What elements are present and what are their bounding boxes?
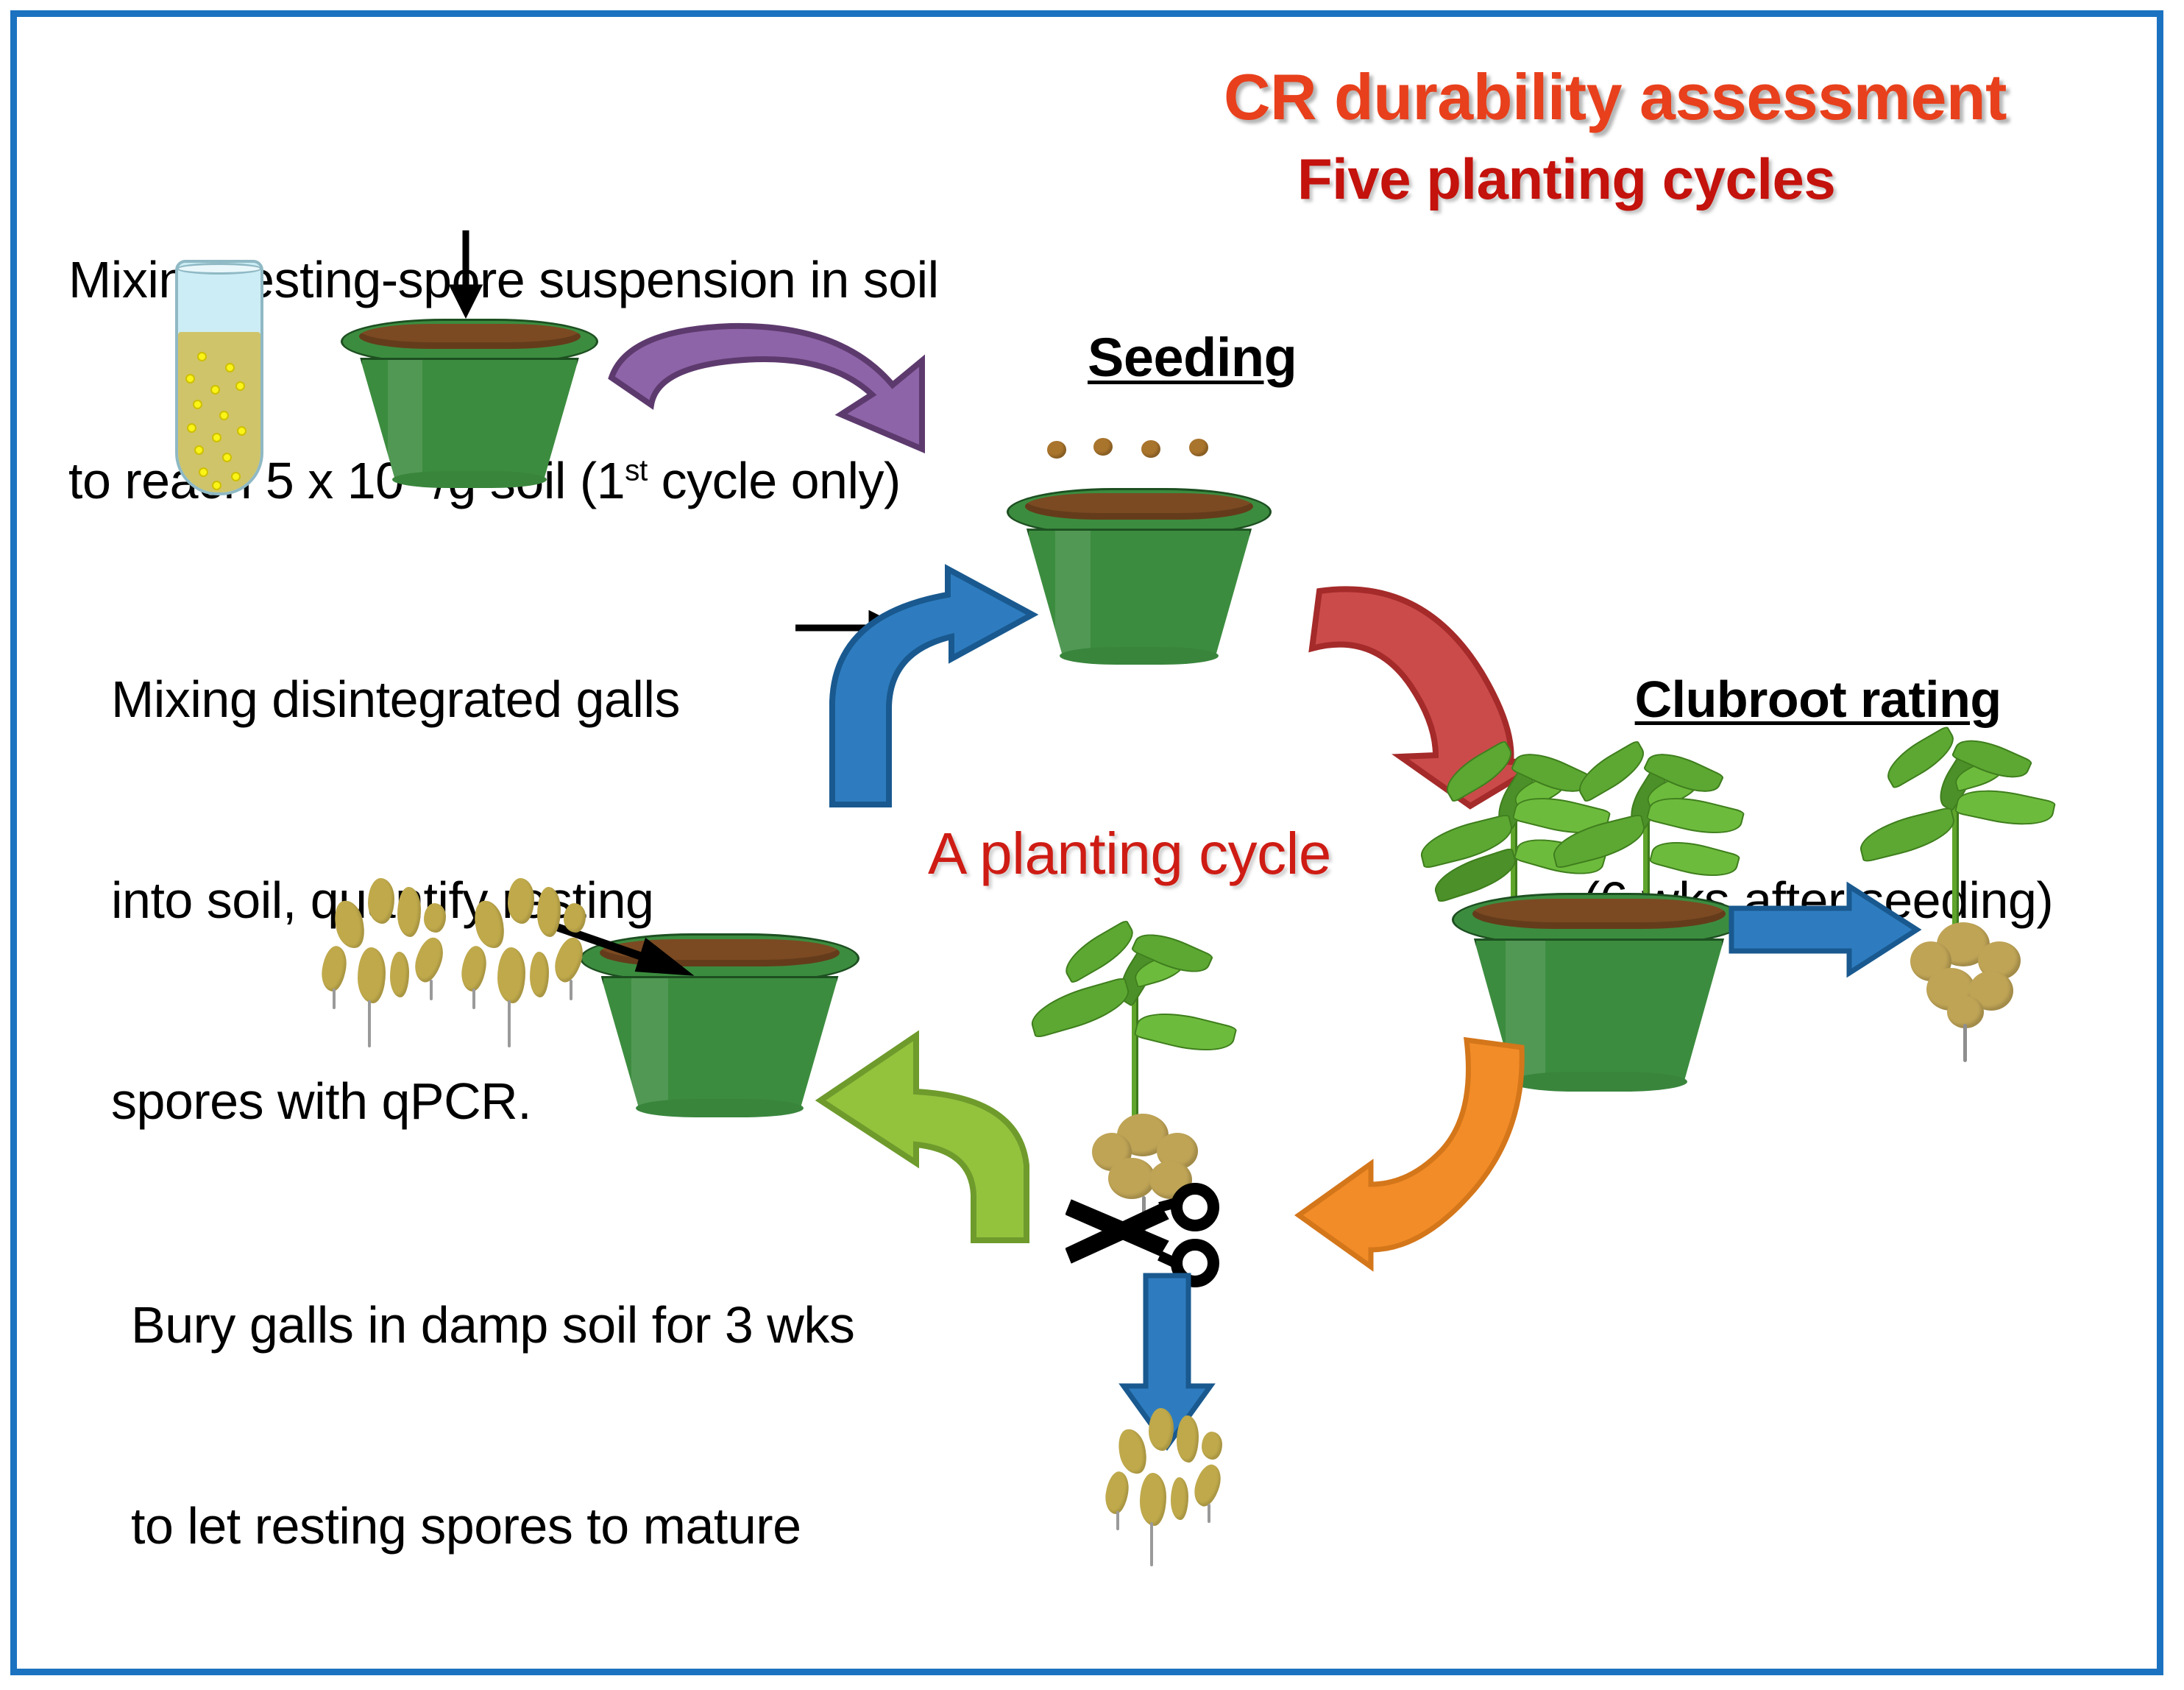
- caption-bury-galls: Bury galls in damp soil for 3 wks to let…: [131, 1158, 854, 1690]
- gall-fragment: [550, 935, 587, 986]
- seed: [1047, 441, 1066, 459]
- returned-disintegrated-galls: [1106, 1408, 1246, 1555]
- gall-root-strand: [1116, 1511, 1119, 1530]
- gall-fragment: [424, 903, 446, 933]
- spore-dot: [212, 481, 221, 490]
- leaf: [1133, 1003, 1237, 1060]
- gall-fragment: [508, 878, 534, 924]
- gall-fragment: [1177, 1415, 1199, 1463]
- page-subtitle: Five planting cycles: [1297, 142, 1835, 216]
- gall-fragment: [564, 903, 586, 933]
- gall-root-strand: [1150, 1522, 1153, 1566]
- spore-dot: [235, 381, 245, 391]
- spore-dot: [222, 453, 232, 462]
- pot-soil: [1025, 493, 1253, 520]
- gall-fragment: [1114, 1426, 1151, 1477]
- gall-fragment: [330, 897, 369, 951]
- pot-soil: [359, 324, 581, 350]
- leaf: [1855, 806, 1959, 863]
- caption-line: to let resting spores to mature: [131, 1493, 854, 1560]
- pot-base: [636, 1099, 804, 1117]
- clubroot-gall-right: [1904, 922, 2044, 1055]
- tube-opening: [177, 263, 262, 275]
- gall-root-strand: [570, 980, 572, 1000]
- leaf: [1649, 832, 1741, 885]
- gall-fragment: [530, 952, 549, 997]
- pot-base: [1060, 647, 1219, 665]
- seed: [1093, 438, 1113, 456]
- gall-fragment: [397, 887, 421, 937]
- spore-dot: [185, 374, 195, 383]
- gall-root-strand: [472, 989, 475, 1009]
- gall-root-strand: [333, 989, 336, 1009]
- gall-fragment: [470, 897, 509, 951]
- leaf: [1954, 782, 2056, 833]
- gall-fragment: [319, 944, 349, 993]
- label-roots-returned-line1: Roots and galls were returned: [830, 1678, 1572, 1690]
- spore-dot: [199, 467, 208, 477]
- figure-border: CR durability assessment Five planting c…: [10, 10, 2163, 1675]
- gall-fragment: [390, 952, 409, 997]
- figure-canvas: CR durability assessment Five planting c…: [0, 0, 2184, 1690]
- disintegrated-galls-2: [462, 878, 609, 1040]
- spore-dot: [219, 411, 229, 420]
- gall-fragment: [411, 935, 447, 986]
- cycle-center-label: A planting cycle: [928, 816, 1331, 892]
- pot-body: [601, 976, 839, 1109]
- label-roots-returned: Roots and galls were returned to the soi…: [830, 1544, 1572, 1690]
- spore-dot: [187, 423, 196, 433]
- seed-row: [1047, 436, 1246, 466]
- gall-fragment: [1171, 1477, 1188, 1520]
- spore-dot: [194, 445, 204, 455]
- gall-root-strand: [1208, 1504, 1210, 1523]
- gall-fragment: [1202, 1432, 1222, 1460]
- seed: [1189, 439, 1208, 456]
- gall-root-strand: [508, 1000, 511, 1047]
- gall-fragment: [1103, 1470, 1131, 1516]
- black-arrow-down-to-pot: [445, 230, 489, 319]
- spore-dot: [193, 400, 202, 409]
- label-clubroot-rating-title: Clubroot rating: [1583, 666, 2053, 733]
- orange-curved-arrow: [1297, 1040, 1533, 1268]
- gall-fragment: [497, 947, 525, 1003]
- purple-curved-arrow: [598, 308, 966, 492]
- caption-line: Bury galls in damp soil for 3 wks: [131, 1292, 854, 1359]
- resting-spore-suspension-tube: [175, 260, 263, 495]
- gall-root-strand: [368, 1000, 371, 1047]
- gall-fragment: [368, 878, 394, 924]
- gall-fragment: [459, 944, 489, 993]
- spore-dot: [225, 363, 235, 372]
- page-title: CR durability assessment: [1224, 55, 2007, 139]
- gall-fragment: [1191, 1462, 1225, 1510]
- single-plant-with-gall: [1864, 738, 2085, 952]
- label-seeding: Seeding: [1088, 322, 1297, 393]
- gall-fragment: [1149, 1408, 1174, 1451]
- spore-dot: [212, 433, 221, 442]
- gall-fragment: [537, 887, 561, 937]
- tube-liquid: [178, 332, 260, 492]
- seed: [1141, 440, 1160, 458]
- blue-curved-arrow-up: [819, 569, 1069, 812]
- gall-fragment: [358, 947, 386, 1003]
- pot-base: [1511, 1072, 1687, 1092]
- spore-dot: [231, 472, 241, 481]
- gall-taproot: [1963, 1024, 1967, 1062]
- gall-fragment: [1140, 1473, 1166, 1526]
- pot-base: [392, 471, 547, 488]
- caption-line: Mixing disintegrated galls: [111, 666, 680, 733]
- spore-dot: [237, 426, 247, 436]
- disintegrated-galls-1: [322, 878, 469, 1040]
- pot-body: [360, 358, 579, 480]
- spore-dot: [210, 385, 220, 395]
- gall-root-strand: [430, 980, 433, 1000]
- soil-mixing-pot: [341, 319, 598, 488]
- pot-soil: [1472, 899, 1726, 929]
- spore-dot: [197, 352, 207, 361]
